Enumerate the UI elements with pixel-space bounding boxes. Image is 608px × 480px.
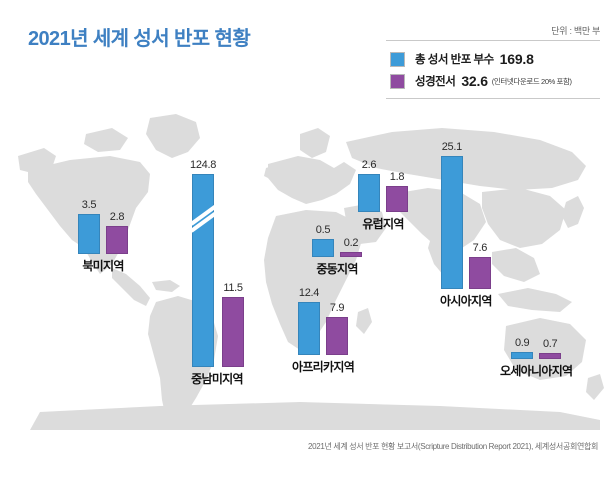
bar-purple-asia[interactable]: [469, 257, 491, 289]
bar-value-blue-middle-east: 0.5: [316, 225, 330, 236]
bars-north-america: 3.5 2.8: [78, 200, 128, 254]
legend-items: 총 성서 반포 부수 169.8 성경전서 32.6 (인터넷다운로드 20% …: [386, 41, 600, 98]
bar-col-purple-north-america: 2.8: [106, 212, 128, 254]
legend-swatch-blue-icon: [390, 52, 405, 67]
bar-purple-africa[interactable]: [326, 317, 348, 355]
region-group-north-america: 3.5 2.8 북미지역: [78, 200, 128, 274]
bar-col-purple-latin-america: 11.5: [222, 283, 244, 367]
source-caption: 2021년 세계 성서 반포 현황 보고서(Scripture Distribu…: [308, 441, 598, 452]
legend-value-total-distribution: 169.8: [500, 51, 534, 67]
bar-purple-latin-america[interactable]: [222, 297, 244, 367]
bar-value-purple-europe: 1.8: [390, 172, 404, 183]
bar-value-purple-oceania: 0.7: [543, 339, 557, 350]
bars-europe: 2.6 1.8: [358, 160, 408, 212]
region-label-latin-america: 중남미지역: [190, 370, 244, 387]
bar-value-purple-africa: 7.9: [330, 303, 344, 314]
bar-blue-latin-america[interactable]: [192, 174, 214, 367]
bar-blue-asia[interactable]: [441, 156, 463, 289]
bar-col-blue-latin-america: 124.8: [190, 160, 216, 367]
region-label-europe: 유럽지역: [358, 215, 408, 232]
region-label-north-america: 북미지역: [78, 257, 128, 274]
region-label-oceania: 오세아니아지역: [500, 362, 572, 379]
bars-africa: 12.4 7.9: [292, 288, 354, 355]
bars-middle-east: 0.5 0.2: [312, 225, 362, 257]
axis-break-icon: [190, 211, 220, 224]
region-group-africa: 12.4 7.9 아프리카지역: [292, 288, 354, 375]
bar-value-blue-europe: 2.6: [362, 160, 376, 171]
bar-value-purple-middle-east: 0.2: [344, 238, 358, 249]
region-label-asia: 아시아지역: [440, 292, 492, 309]
bar-purple-oceania[interactable]: [539, 353, 561, 359]
bar-blue-europe[interactable]: [358, 174, 380, 212]
bar-blue-middle-east[interactable]: [312, 239, 334, 257]
region-group-europe: 2.6 1.8 유럽지역: [358, 160, 408, 232]
legend: 단위 : 백만 부 총 성서 반포 부수 169.8 성경전서 32.6 (인터…: [386, 24, 600, 99]
legend-unit-label: 단위 : 백만 부: [386, 24, 600, 40]
bar-purple-north-america[interactable]: [106, 226, 128, 254]
bar-col-purple-europe: 1.8: [386, 172, 408, 212]
region-label-africa: 아프리카지역: [292, 358, 354, 375]
infographic-canvas: 2021년 세계 성서 반포 현황 단위 : 백만 부 총 성서 반포 부수 1…: [0, 0, 608, 480]
region-group-oceania: 0.9 0.7 오세아니아지역: [500, 338, 572, 379]
bar-value-blue-asia: 25.1: [442, 142, 462, 153]
legend-label-total-distribution: 총 성서 반포 부수: [415, 51, 494, 67]
legend-value-full-bible: 32.6: [461, 73, 487, 89]
bar-purple-europe[interactable]: [386, 186, 408, 212]
bar-col-blue-north-america: 3.5: [78, 200, 100, 254]
bar-col-purple-africa: 7.9: [326, 303, 348, 355]
region-label-middle-east: 중동지역: [312, 260, 362, 277]
bar-col-blue-oceania: 0.9: [511, 338, 533, 359]
bar-blue-oceania[interactable]: [511, 352, 533, 359]
bar-value-purple-latin-america: 11.5: [223, 283, 242, 294]
legend-bottom-rule: [386, 98, 600, 99]
bar-value-blue-north-america: 3.5: [82, 200, 96, 211]
bar-value-purple-north-america: 2.8: [110, 212, 124, 223]
bar-value-blue-latin-america: 124.8: [190, 160, 216, 171]
bar-value-blue-africa: 12.4: [299, 288, 319, 299]
legend-label-full-bible: 성경전서: [415, 73, 455, 89]
region-group-asia: 25.1 7.6 아시아지역: [440, 142, 492, 309]
region-group-latin-america: 124.8 11.5 중남미지역: [190, 160, 244, 387]
bar-purple-middle-east[interactable]: [340, 252, 362, 257]
region-group-middle-east: 0.5 0.2 중동지역: [312, 225, 362, 277]
legend-item-full-bible: 성경전서 32.6 (인터넷다운로드 20% 포함): [386, 70, 600, 92]
legend-item-total-distribution: 총 성서 반포 부수 169.8: [386, 48, 600, 70]
bar-col-blue-middle-east: 0.5: [312, 225, 334, 257]
bar-col-purple-middle-east: 0.2: [340, 238, 362, 257]
page-title: 2021년 세계 성서 반포 현황: [28, 22, 250, 51]
bar-blue-north-america[interactable]: [78, 214, 100, 254]
bar-col-purple-asia: 7.6: [469, 243, 491, 289]
bar-col-purple-oceania: 0.7: [539, 339, 561, 359]
bars-latin-america: 124.8 11.5: [190, 160, 244, 367]
bar-col-blue-africa: 12.4: [298, 288, 320, 355]
bar-col-blue-europe: 2.6: [358, 160, 380, 212]
bar-blue-africa[interactable]: [298, 302, 320, 355]
bars-asia: 25.1 7.6: [440, 142, 492, 289]
legend-swatch-purple-icon: [390, 74, 405, 89]
bars-oceania: 0.9 0.7: [500, 338, 572, 359]
bar-value-blue-oceania: 0.9: [515, 338, 529, 349]
bar-col-blue-asia: 25.1: [441, 142, 463, 289]
bar-value-purple-asia: 7.6: [473, 243, 487, 254]
legend-note-full-bible: (인터넷다운로드 20% 포함): [492, 76, 572, 87]
